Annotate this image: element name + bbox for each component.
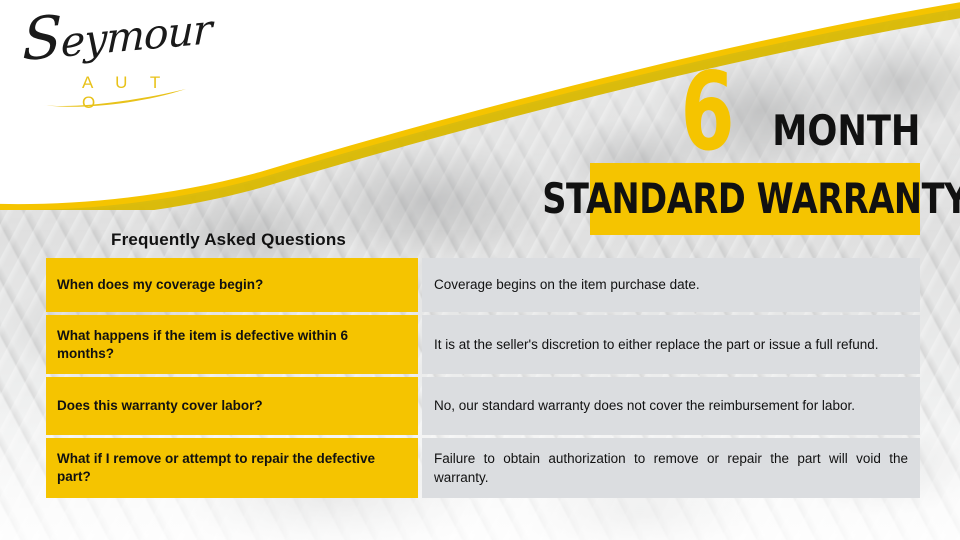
seymour-auto-logo: Seymour A U T O	[18, 18, 188, 104]
faq-answer-cell: Coverage begins on the item purchase dat…	[422, 258, 920, 312]
faq-table: When does my coverage begin? Coverage be…	[46, 258, 920, 498]
table-row: Does this warranty cover labor? No, our …	[46, 377, 920, 435]
faq-question-cell: When does my coverage begin?	[46, 258, 418, 312]
faq-answer-cell: No, our standard warranty does not cover…	[422, 377, 920, 435]
logo-initial: S	[22, 2, 62, 74]
logo-swoosh-icon	[40, 88, 188, 108]
logo-script-text: Seymour	[22, 5, 212, 70]
faq-question-cell: Does this warranty cover labor?	[46, 377, 418, 435]
faq-heading: Frequently Asked Questions	[111, 230, 346, 250]
warranty-term-headline: 6 MONTH	[590, 46, 920, 158]
faq-question-cell: What if I remove or attempt to repair th…	[46, 438, 418, 498]
faq-answer-cell: It is at the seller's discretion to eith…	[422, 315, 920, 374]
table-row: What if I remove or attempt to repair th…	[46, 438, 920, 498]
warranty-faq-slide: Seymour A U T O 6 MONTH STANDARD WARRANT…	[0, 0, 960, 540]
standard-warranty-banner: STANDARD WARRANTY	[590, 163, 920, 235]
faq-question-cell: What happens if the item is defective wi…	[46, 315, 418, 374]
table-row: When does my coverage begin? Coverage be…	[46, 258, 920, 312]
warranty-term-number: 6	[681, 69, 734, 158]
table-row: What happens if the item is defective wi…	[46, 315, 920, 374]
standard-warranty-banner-text: STANDARD WARRANTY	[542, 178, 960, 220]
faq-answer-cell: Failure to obtain authorization to remov…	[422, 438, 920, 498]
warranty-term-unit: MONTH	[772, 110, 920, 158]
